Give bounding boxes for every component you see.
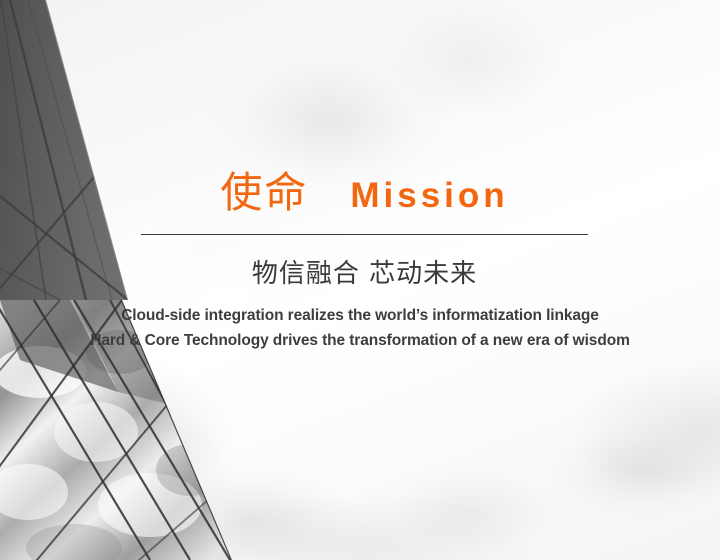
tagline-line-2: Hard & Core Technology drives the transf… — [60, 328, 660, 353]
title-divider — [141, 234, 588, 235]
page-title-en: Mission — [350, 178, 508, 213]
mission-banner: 使命 Mission 物信融合 芯动未来 Cloud-side integrat… — [0, 0, 720, 560]
page-title-cn: 使命 — [220, 172, 308, 214]
mission-text-block: 使命 Mission 物信融合 芯动未来 Cloud-side integrat… — [0, 0, 720, 560]
tagline-line-1: Cloud-side integration realizes the worl… — [60, 303, 660, 328]
title-row: 使命 Mission — [141, 172, 588, 228]
subtitle-cn: 物信融合 芯动未来 — [141, 257, 588, 291]
tagline-block: Cloud-side integration realizes the worl… — [60, 303, 660, 353]
